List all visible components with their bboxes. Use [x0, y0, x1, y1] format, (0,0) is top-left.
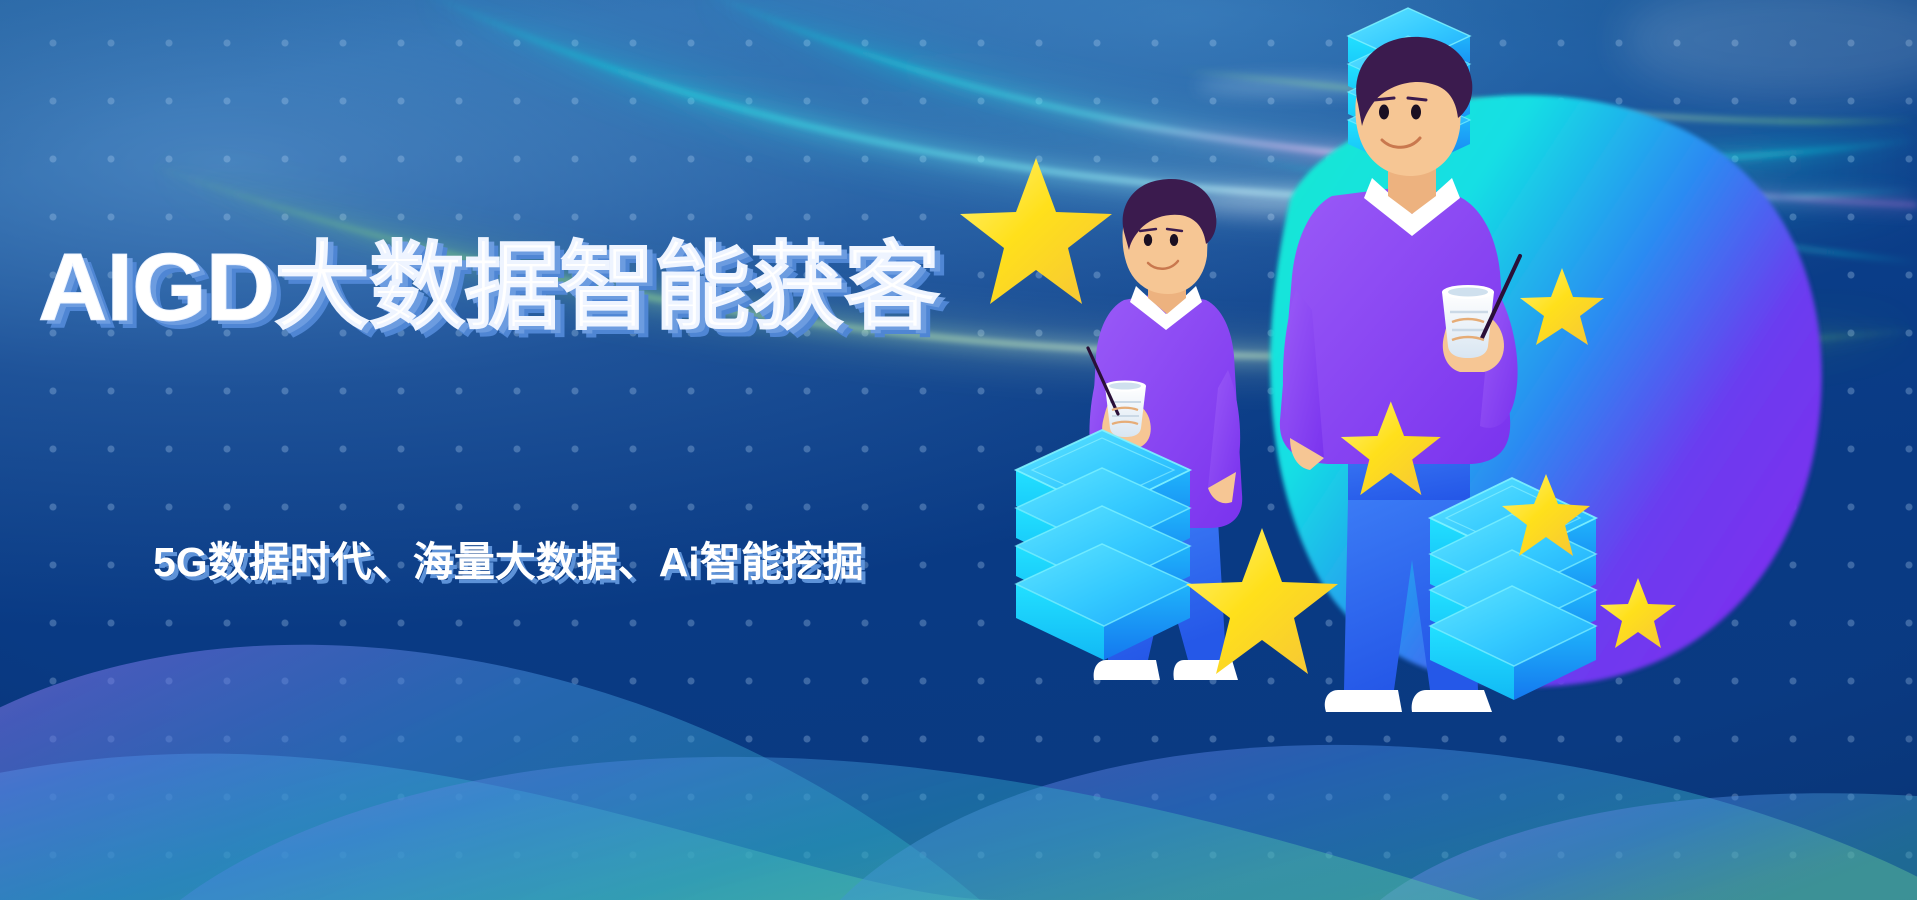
- banner-subheadline: 5G数据时代、海量大数据、Ai智能挖掘 5G数据时代、海量大数据、Ai智能挖掘: [150, 530, 970, 600]
- subheadline-text: 5G数据时代、海量大数据、Ai智能挖掘: [153, 539, 864, 585]
- star-left-large: [960, 158, 1112, 304]
- cup-tall: [1442, 285, 1494, 358]
- banner-canvas: AIGD大数据智能获客 AIGD大数据智能获客 AIGD大数据智能获客 5G数据…: [0, 0, 1917, 900]
- cup-small: [1104, 381, 1146, 438]
